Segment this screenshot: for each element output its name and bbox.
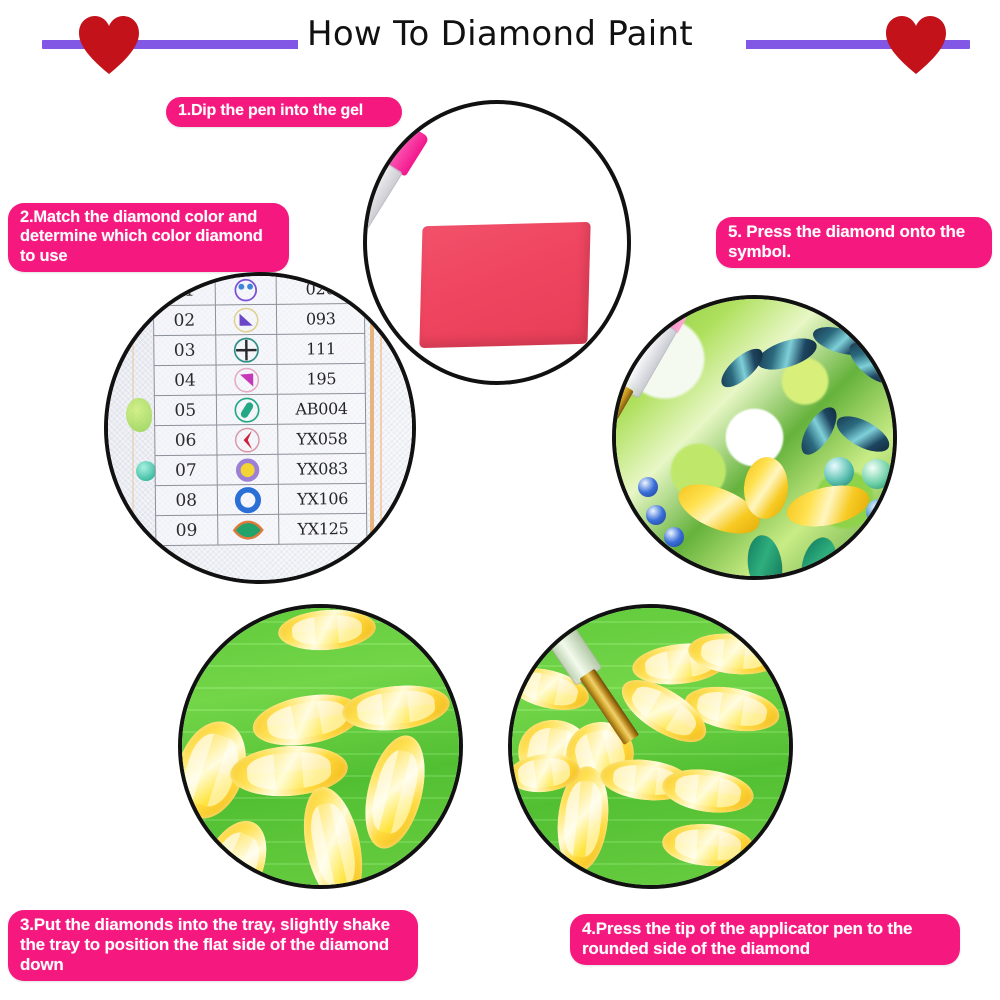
row-code: AB004 [278,393,366,424]
step-2-label: 2.Match the diamond color and determine … [8,203,289,272]
row-code: YX125 [279,513,367,544]
row-code: 111 [277,333,365,364]
facet-pattern [356,688,437,728]
facet-pattern [245,750,332,792]
table-row: 03 111 [154,333,365,365]
magenta-triangle-icon [216,365,277,394]
step-5-label: 5. Press the diamond onto the symbol. [716,217,992,268]
row-number: 07 [155,455,217,486]
photo-diamonds-in-tray [178,604,463,889]
left-chevron-icon [217,425,278,454]
infographic-page: How To Diamond Paint 1.Dip the pen into … [0,0,1000,1000]
double-dot-circle-icon [215,275,276,304]
stray-drill-green [126,398,152,432]
row-code: 093 [277,303,365,334]
color-legend-table: 01 020 02 093 [153,273,368,546]
gem-round-1 [824,457,854,487]
step-3-label: 3.Put the diamonds into the tray, slight… [8,910,418,981]
blue-ring-icon [217,485,278,514]
photo-press-onto-symbol [612,295,897,580]
color-legend-rows: 01 020 02 093 [153,273,367,545]
facet-pattern [674,828,742,863]
row-symbol [216,364,278,395]
row-number: 04 [154,365,216,396]
chart-orange-rule [370,276,374,584]
step-1-label: 1.Dip the pen into the gel [166,97,402,127]
photo-pen-picking-diamond [508,604,793,889]
row-symbol [215,334,277,365]
table-row: 08 YX106 [155,483,366,515]
table-row: 07 YX083 [155,453,366,485]
filled-triangle-icon [216,305,277,334]
row-code: 195 [277,363,365,394]
gel-wax-square [419,222,590,348]
row-number: 05 [154,395,216,426]
table-row: 04 195 [154,363,365,395]
row-symbol [215,304,277,335]
row-code: 020 [276,273,364,304]
row-number: 08 [155,485,217,516]
row-number: 03 [154,335,216,366]
facet-pattern [673,771,743,810]
row-number: 01 [153,275,215,306]
step-4-label: 4.Press the tip of the applicator pen to… [570,914,960,965]
chart-orange-rule-2 [380,276,382,584]
header-banner: How To Diamond Paint [0,0,1000,86]
table-row: 01 020 [153,273,364,305]
table-row: 02 093 [153,303,364,335]
row-symbol [217,514,279,545]
row-symbol [217,454,279,485]
yellow-dot-ring-icon [217,455,278,484]
row-number: 09 [156,515,218,546]
facet-pattern [700,636,769,672]
green-leaf-icon [218,515,279,544]
tilted-capsule-icon [216,395,277,424]
page-title: How To Diamond Paint [0,14,1000,54]
table-row: 06 YX058 [155,423,366,455]
applicator-pen [363,114,430,265]
gem-round-blue-3 [664,527,684,547]
row-code: YX083 [278,453,366,484]
gem-round-3 [866,499,892,525]
row-number: 02 [153,305,215,336]
gem-round-blue-1 [638,477,658,497]
row-code: YX058 [278,423,366,454]
table-row: 09 YX125 [156,513,367,545]
facet-pattern [291,613,363,647]
row-symbol [215,274,277,305]
facet-pattern [517,757,571,790]
row-symbol [216,394,278,425]
gem-round-blue-2 [646,505,666,525]
photo-color-chart: 01 020 02 093 [104,272,416,584]
facet-pattern [561,779,605,859]
row-symbol [217,484,279,515]
plus-cross-icon [216,335,277,364]
row-number: 06 [155,425,217,456]
row-symbol [216,424,278,455]
row-code: YX106 [279,483,367,514]
gem-round-2 [862,459,892,489]
table-row: 05 AB004 [154,393,365,425]
stray-drill-teal [136,461,156,481]
